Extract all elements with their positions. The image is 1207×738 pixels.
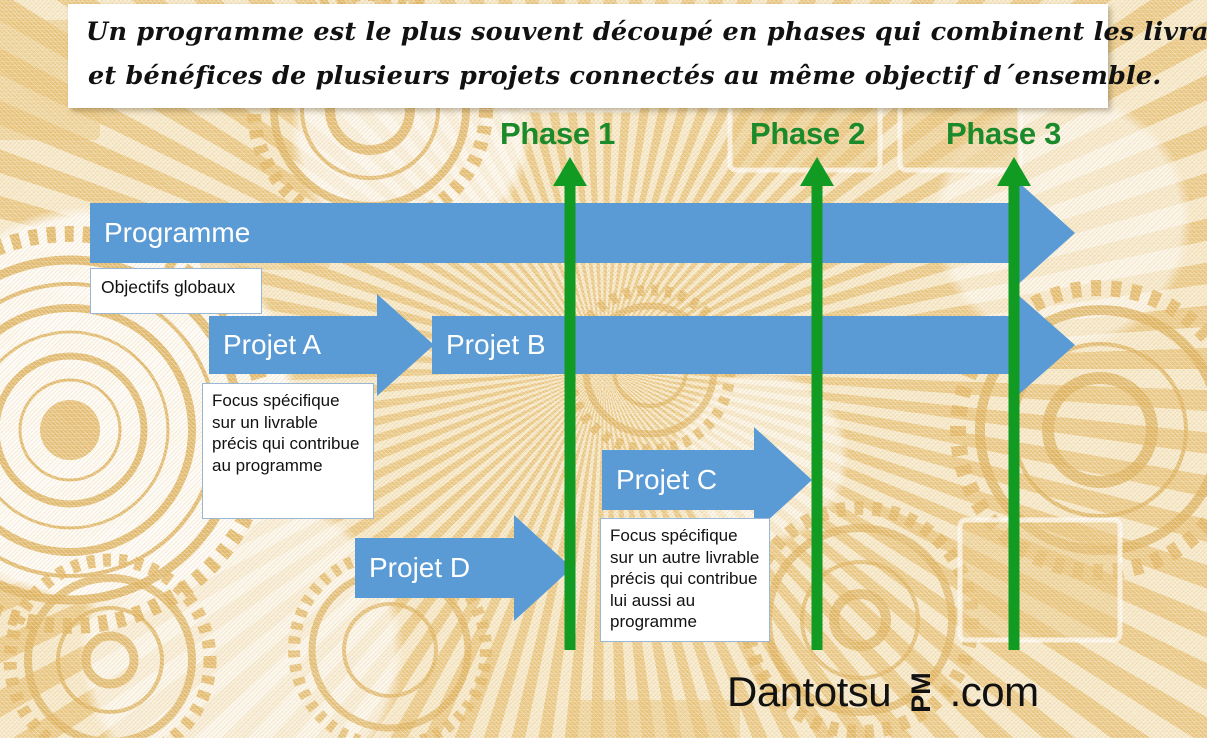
phase-arrow-3 <box>997 157 1031 650</box>
phase-arrow-1-head <box>553 157 587 186</box>
phase-arrow-2 <box>800 157 834 650</box>
note-focus-projet-c: Focus spécifique sur un autre livrable p… <box>600 518 770 642</box>
phase-arrow-3-shaft <box>1009 183 1020 650</box>
projet-d-label: Projet D <box>369 552 470 584</box>
site-logo[interactable]: Dantotsu PM .com <box>727 668 1039 716</box>
phase-label-1: Phase 1 <box>500 116 615 152</box>
header-caption: Un programme est le plus souvent découpé… <box>68 4 1108 108</box>
phase-label-2: Phase 2 <box>750 116 865 152</box>
projet-a-arrow: Projet A <box>209 316 434 374</box>
logo-tld: .com <box>950 668 1039 716</box>
projet-d-arrow: Projet D <box>355 538 572 598</box>
projet-b-arrow: Projet B <box>432 316 1075 374</box>
projet-c-label: Projet C <box>616 464 717 496</box>
caption-line-2: et bénéfices de plusieurs projets connec… <box>86 54 1094 98</box>
slide-canvas: Un programme est le plus souvent découpé… <box>0 0 1207 738</box>
phase-label-3: Phase 3 <box>946 116 1061 152</box>
projet-b-label: Projet B <box>446 329 546 361</box>
phase-arrow-1-shaft <box>565 183 576 650</box>
projet-c-arrow: Projet C <box>602 450 812 510</box>
logo-brand: Dantotsu <box>727 668 891 716</box>
phase-arrow-2-shaft <box>812 183 823 650</box>
caption-line-1: Un programme est le plus souvent découpé… <box>86 10 1094 54</box>
phase-arrow-3-head <box>997 157 1031 186</box>
phase-arrow-1 <box>553 157 587 650</box>
logo-pm-mark: PM <box>906 672 937 713</box>
projet-a-arrow-tip <box>377 294 434 396</box>
note-focus-projet-a: Focus spécifique sur un livrable précis … <box>202 383 374 519</box>
phase-arrow-2-head <box>800 157 834 186</box>
projet-a-label: Projet A <box>223 329 321 361</box>
note-objectifs-globaux: Objectifs globaux <box>90 268 262 314</box>
programme-label: Programme <box>104 217 250 249</box>
